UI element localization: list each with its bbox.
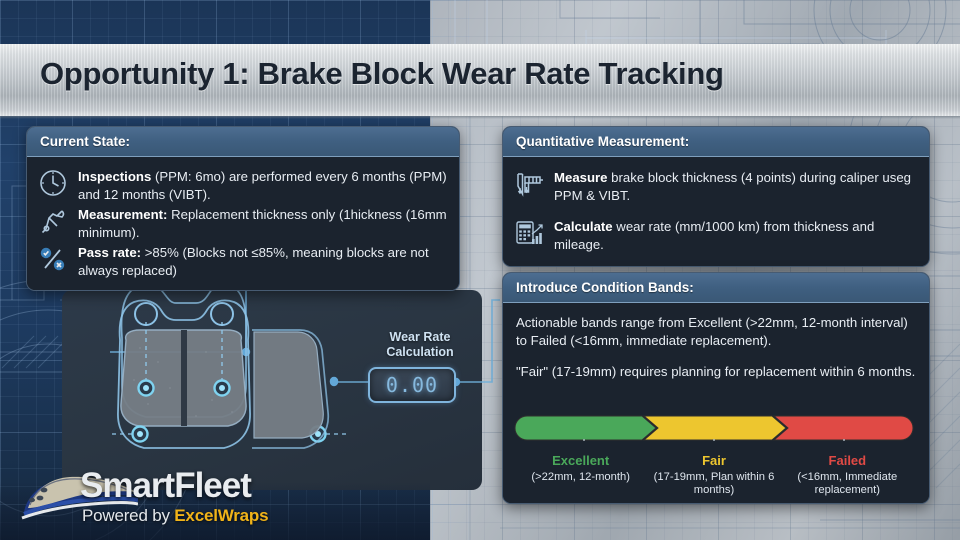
calculator-chart-icon [513,217,545,249]
condition-bands-legend: Excellent (>22mm, 12-month) Fair (17-19m… [514,453,914,498]
band-name: Failed [784,453,911,469]
list-item-lead: Measure [554,170,608,185]
current-state-body: Inspections (PPM: 6mo) are performed eve… [27,157,459,290]
list-item-text: Pass rate: >85% (Blocks not ≤85%, meanin… [78,243,447,279]
list-item-text: Measure brake block thickness (4 points)… [554,168,917,204]
logo-brand: ExcelWraps [174,506,268,525]
band-description: (<16mm, Immediate replacement) [784,471,911,499]
band-segment-failed [774,416,913,440]
current-state-card: Current State: Inspections (PPM: 6mo) ar… [26,126,460,291]
list-item-text: Inspections (PPM: 6mo) are performed eve… [78,167,447,203]
band-segment-fair [644,416,786,440]
logo-tagline: Powered by ExcelWraps [82,506,268,526]
list-item: Measurement: Replacement thickness only … [37,205,447,241]
condition-bands-paragraph: "Fair" (17-19mm) requires planning for r… [516,363,916,381]
condition-bands-bar [514,415,914,441]
quantitative-measurement-body: Measure brake block thickness (4 points)… [503,157,929,266]
list-item: Measure brake block thickness (4 points)… [513,168,917,204]
smartfleet-logo: SmartFleet Powered by ExcelWraps [18,466,318,534]
list-item-lead: Pass rate: [78,245,141,260]
list-item: Pass rate: >85% (Blocks not ≤85%, meanin… [37,243,447,279]
band-legend-item: Failed (<16mm, Immediate replacement) [781,453,914,498]
condition-bands-header: Introduce Condition Bands: [503,273,929,303]
quantitative-measurement-card: Quantitative Measurement: Measure b [502,126,930,267]
clock-icon [37,167,69,199]
caliper-icon [513,168,545,200]
list-item-lead: Inspections [78,169,151,184]
condition-bands-chart: Excellent (>22mm, 12-month) Fair (17-19m… [514,415,914,498]
list-item-text: Calculate wear rate (mm/1000 km) from th… [554,217,917,253]
band-name: Excellent [517,453,644,469]
wear-rate-value: 0.00 [386,373,438,397]
band-legend-item: Excellent (>22mm, 12-month) [514,453,647,498]
current-state-header: Current State: [27,127,459,157]
wear-rate-label: Wear Rate Calculation [372,330,468,360]
condition-bands-paragraph: Actionable bands range from Excellent (>… [516,314,916,350]
wear-rate-label-line2: Calculation [372,345,468,360]
list-item-text: Measurement: Replacement thickness only … [78,205,447,241]
band-description: (17-19mm, Plan within 6 months) [650,471,777,499]
band-legend-item: Fair (17-19mm, Plan within 6 months) [647,453,780,498]
wear-rate-display: 0.00 [368,367,456,403]
band-description: (>22mm, 12-month) [517,471,644,485]
wear-rate-label-line1: Wear Rate [372,330,468,345]
list-item: Inspections (PPM: 6mo) are performed eve… [37,167,447,203]
caliper-wrench-icon [37,205,69,237]
pass-fail-percent-icon [37,243,69,275]
band-name: Fair [650,453,777,469]
list-item: Calculate wear rate (mm/1000 km) from th… [513,217,917,253]
slide-stage: Opportunity 1: Brake Block Wear Rate Tra… [0,0,960,540]
list-item-rest: brake block thickness (4 points) during … [554,170,911,203]
logo-name: SmartFleet [80,466,251,506]
logo-powered-prefix: Powered by [82,506,174,525]
list-item-lead: Calculate [554,219,613,234]
band-segment-excellent [515,416,656,440]
quantitative-measurement-header: Quantitative Measurement: [503,127,929,157]
list-item-lead: Measurement: [78,207,167,222]
